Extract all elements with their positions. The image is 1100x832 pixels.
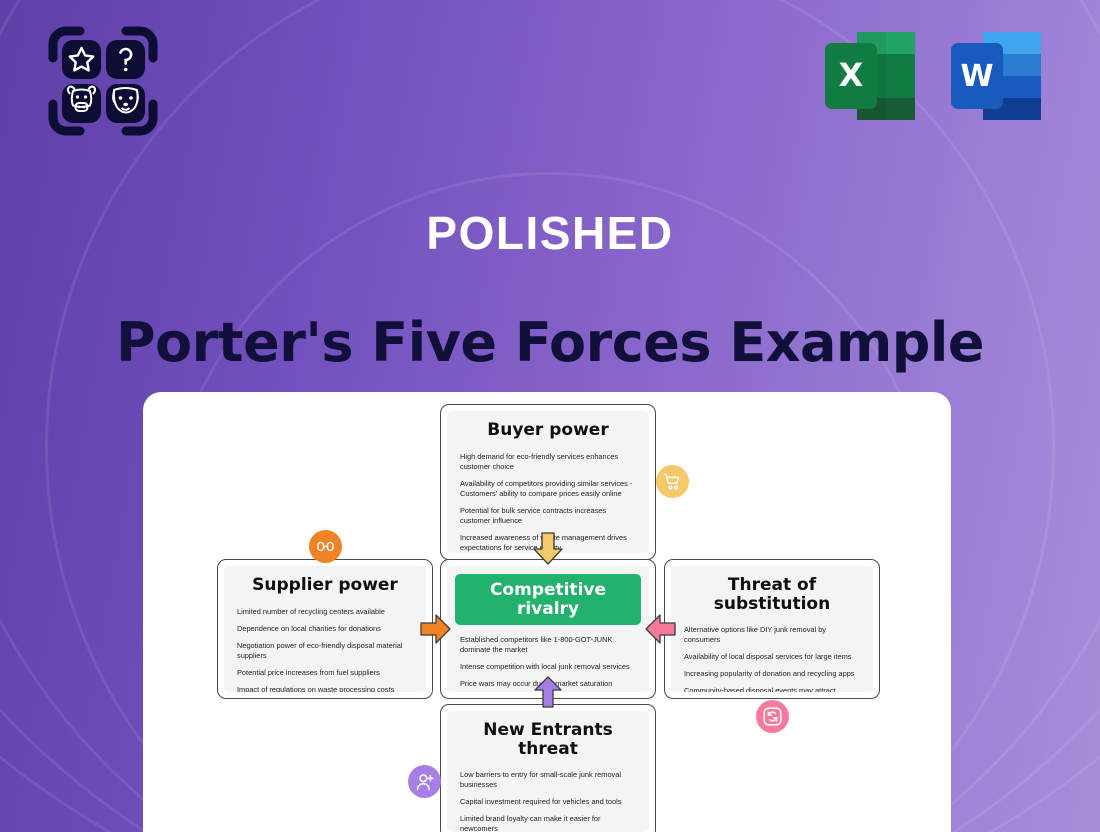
force-line: Availability of competitors providing si…	[460, 479, 636, 499]
force-body-entrants: Low barriers to entry for small-scale ju…	[457, 770, 639, 832]
force-box-supplier[interactable]: Supplier power Limited number of recycli…	[217, 559, 433, 699]
shopping-cart-icon	[663, 472, 682, 491]
force-line: Limited number of recycling centers avai…	[237, 607, 413, 617]
refresh-sync-icon	[762, 706, 783, 727]
badge-buyer[interactable]	[656, 465, 689, 498]
polished-logo[interactable]	[46, 24, 160, 138]
force-line: Community-based disposal events may attr…	[684, 686, 860, 692]
force-body-substitution: Alternative options like DIY junk remova…	[681, 625, 863, 692]
force-line: Low barriers to entry for small-scale ju…	[460, 770, 636, 790]
porters-five-forces-diagram: Buyer power High demand for eco-friendly…	[143, 392, 951, 832]
force-line: Capital investment required for vehicles…	[460, 797, 636, 807]
document-card: Buyer power High demand for eco-friendly…	[143, 392, 951, 832]
force-title-buyer: Buyer power	[457, 421, 639, 440]
word-icon[interactable]: W	[947, 28, 1045, 124]
svg-text:W: W	[960, 59, 993, 94]
force-line: Alternative options like DIY junk remova…	[684, 625, 860, 645]
force-line: Established competitors like 1-800-GOT-J…	[460, 635, 636, 655]
page-root: X W POLISHED Porter's Five Forces Exampl…	[0, 0, 1100, 832]
force-title-supplier: Supplier power	[234, 576, 416, 595]
star-icon	[62, 40, 101, 79]
force-line: Potential for bulk service contracts inc…	[460, 506, 636, 526]
force-line: Availability of local disposal services …	[684, 652, 860, 662]
link-chain-icon	[316, 537, 335, 556]
force-box-entrants[interactable]: New Entrants threat Low barriers to entr…	[440, 704, 656, 832]
force-title-entrants: New Entrants threat	[457, 721, 639, 758]
force-line: Limited brand loyalty can make it easier…	[460, 814, 636, 832]
arrow-entrants-to-rivalry	[533, 676, 563, 713]
force-line: Potential price increases from fuel supp…	[237, 668, 413, 678]
arrow-substitution-to-rivalry	[644, 613, 676, 650]
force-box-substitution[interactable]: Threat of substitution Alternative optio…	[664, 559, 880, 699]
badge-substitution[interactable]	[756, 700, 789, 733]
page-title: Porter's Five Forces Example	[0, 315, 1100, 372]
force-line: High demand for eco-friendly services en…	[460, 452, 636, 472]
force-body-supplier: Limited number of recycling centers avai…	[234, 607, 416, 692]
force-line: Dependence on local charities for donati…	[237, 624, 413, 634]
force-line: Increasing popularity of donation and re…	[684, 669, 860, 679]
office-icons-group: X W	[821, 28, 1045, 124]
badge-entrants[interactable]	[408, 765, 441, 798]
force-title-substitution: Threat of substitution	[681, 576, 863, 613]
arrow-buyer-to-rivalry	[531, 532, 565, 571]
arrow-supplier-to-rivalry	[420, 613, 452, 650]
badge-supplier[interactable]	[309, 530, 342, 563]
svg-text:X: X	[839, 56, 864, 94]
kicker-text: POLISHED	[0, 210, 1100, 256]
force-line: Intense competition with local junk remo…	[460, 662, 636, 672]
force-title-rivalry: Competitive rivalry	[455, 574, 641, 625]
force-line: Negotiation power of eco-friendly dispos…	[237, 641, 413, 661]
force-line: Impact of regulations on waste processin…	[237, 685, 413, 692]
add-user-icon	[415, 772, 435, 792]
excel-icon[interactable]: X	[821, 28, 919, 124]
